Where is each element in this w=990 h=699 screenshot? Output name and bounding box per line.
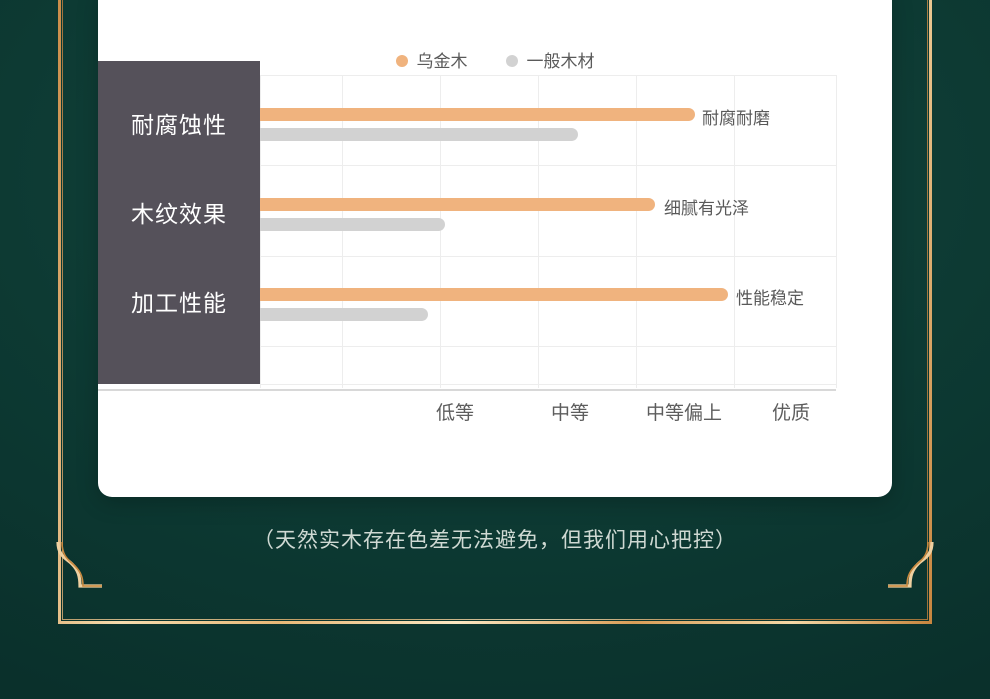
gridline-vertical	[440, 75, 441, 388]
chart-card: 乌金木 一般木材 耐腐耐磨 细腻有光泽 性能稳定	[98, 0, 892, 497]
bar-primary-2	[244, 288, 728, 301]
axis-baseline	[98, 389, 836, 391]
gridline-horizontal	[260, 165, 836, 166]
legend-dot-primary	[396, 55, 408, 67]
legend-label-primary: 乌金木	[417, 53, 468, 70]
x-tick-2: 中等偏上	[646, 398, 722, 425]
page-caption: （天然实木存在色差无法避免，但我们用心把控）	[0, 524, 990, 554]
bar-annotation-0: 耐腐耐磨	[702, 104, 770, 129]
legend-label-secondary: 一般木材	[527, 53, 595, 70]
category-label-0: 耐腐蚀性	[98, 106, 260, 140]
plot-area: 耐腐耐磨 细腻有光泽 性能稳定 耐腐蚀性 木纹效果 加工性能	[98, 75, 892, 388]
bar-primary-1	[244, 198, 655, 211]
gridline-horizontal	[260, 256, 836, 257]
legend-item-primary[interactable]: 乌金木	[396, 53, 468, 70]
category-label-1: 木纹效果	[98, 195, 260, 229]
bar-annotation-2: 性能稳定	[736, 284, 804, 309]
gridline-vertical	[636, 75, 637, 388]
bar-secondary-0	[244, 128, 578, 141]
gridline-vertical	[538, 75, 539, 388]
gridline-vertical	[260, 75, 261, 388]
bar-annotation-1: 细腻有光泽	[664, 194, 749, 219]
legend-dot-secondary	[506, 55, 518, 67]
category-label-2: 加工性能	[98, 284, 260, 318]
gridline-horizontal	[260, 384, 836, 385]
gridline-vertical	[836, 75, 837, 388]
gridline-vertical	[342, 75, 343, 388]
x-axis-tick-labels: 低等 中等 中等偏上 优质	[98, 398, 892, 432]
category-panel: 耐腐蚀性 木纹效果 加工性能	[98, 61, 260, 384]
gridline-horizontal	[260, 346, 836, 347]
x-tick-3: 优质	[772, 398, 810, 425]
bar-secondary-2	[244, 308, 428, 321]
legend-item-secondary[interactable]: 一般木材	[506, 53, 595, 70]
gridline-horizontal	[260, 75, 836, 76]
bar-secondary-1	[244, 218, 445, 231]
x-tick-1: 中等	[551, 398, 589, 425]
x-tick-0: 低等	[436, 398, 474, 425]
bar-primary-0	[244, 108, 695, 121]
